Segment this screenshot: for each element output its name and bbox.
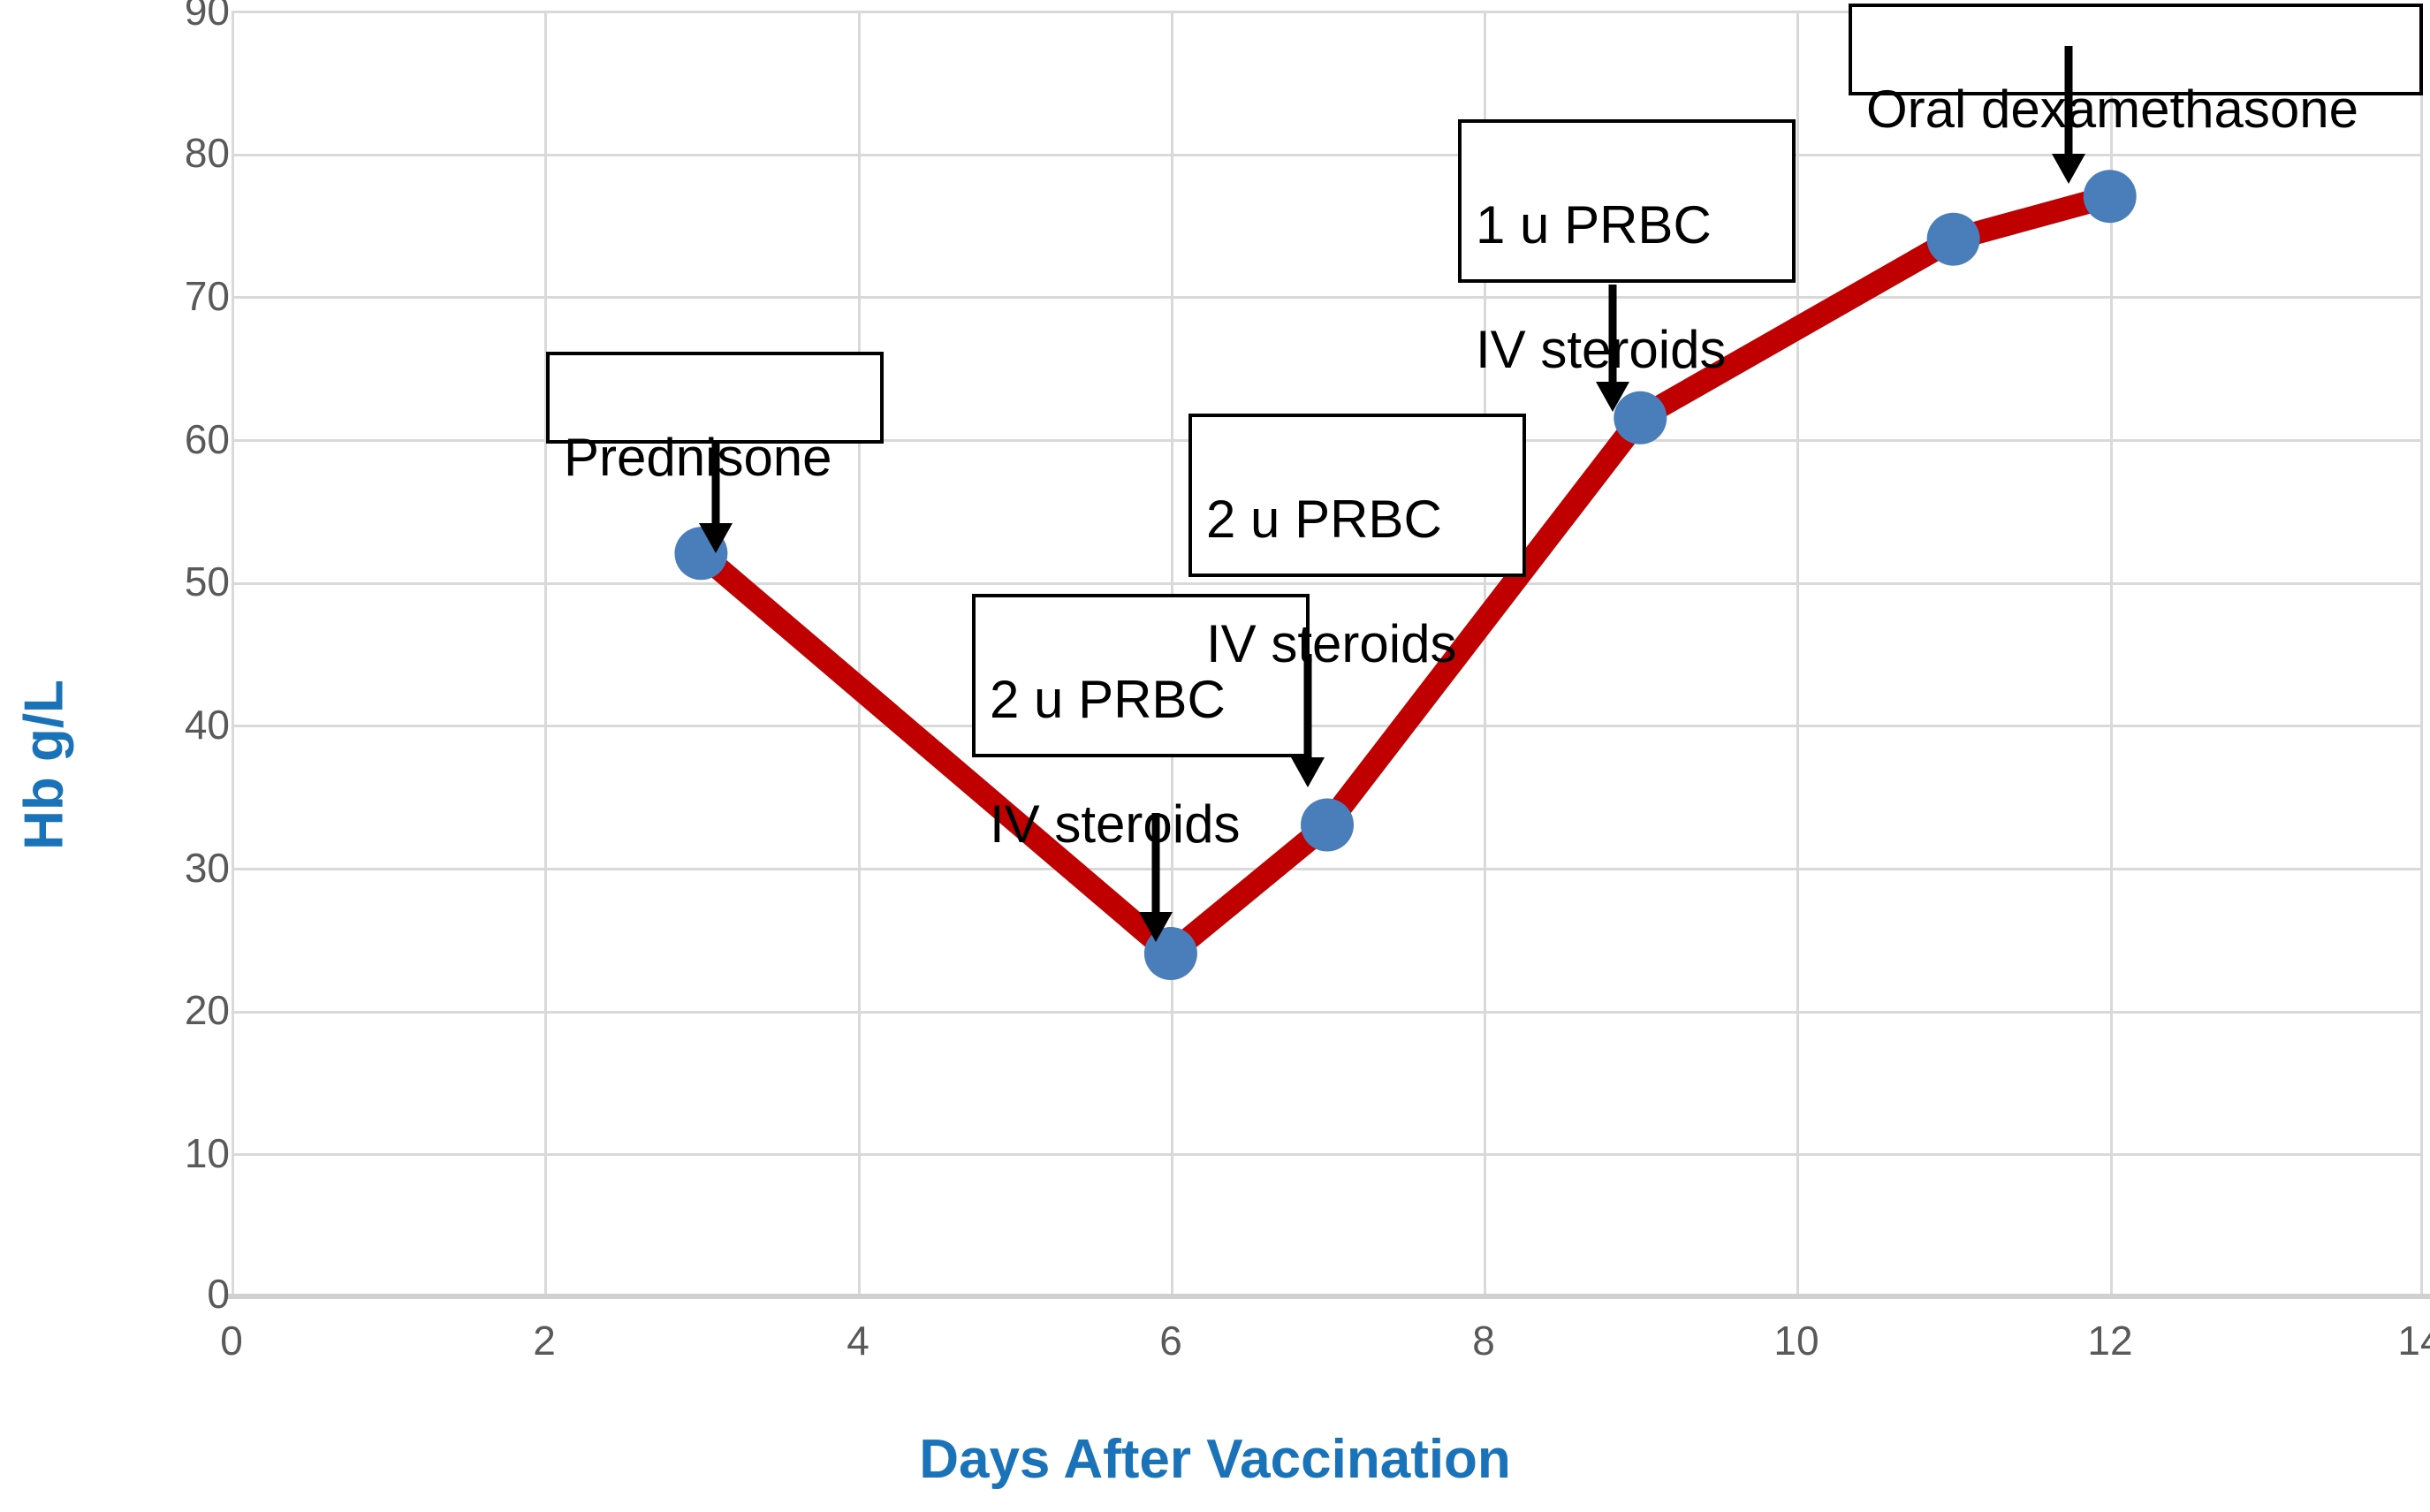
annotation-prbc2-day7-line1: 2 u PRBC — [1206, 490, 1442, 549]
annotation-prbc2-day6-line1: 2 u PRBC — [990, 670, 1226, 729]
annotation-prednisone-arrow-icon — [689, 442, 742, 557]
annotation-prbc1-day9: 1 u PRBC IV steroids — [1458, 119, 1796, 283]
annotation-prbc2-day7-arrow-icon — [1281, 654, 1334, 791]
annotation-prbc1-day9-line1: 1 u PRBC — [1476, 195, 1712, 255]
annotation-prbc2-day6-line2: IV steroids — [990, 794, 1240, 854]
annotation-prbc2-day7: 2 u PRBC IV steroids — [1188, 414, 1526, 577]
data-point-day-11 — [1927, 213, 1980, 266]
annotation-prbc2-day6-arrow-icon — [1129, 813, 1182, 946]
data-point-day-7 — [1301, 799, 1354, 852]
annotation-prednisone: Prednisone — [546, 352, 884, 444]
annotation-dexamethasone: Oral dexamethasone — [1849, 4, 2423, 95]
annotation-dexamethasone-arrow-icon — [2042, 46, 2095, 187]
annotation-dexamethasone-label: Oral dexamethasone — [1866, 80, 2358, 139]
annotation-prbc1-day9-arrow-icon — [1586, 285, 1639, 415]
chart-figure: 90 80 70 60 50 40 30 20 10 0 0 2 4 6 8 1… — [0, 0, 2430, 1512]
